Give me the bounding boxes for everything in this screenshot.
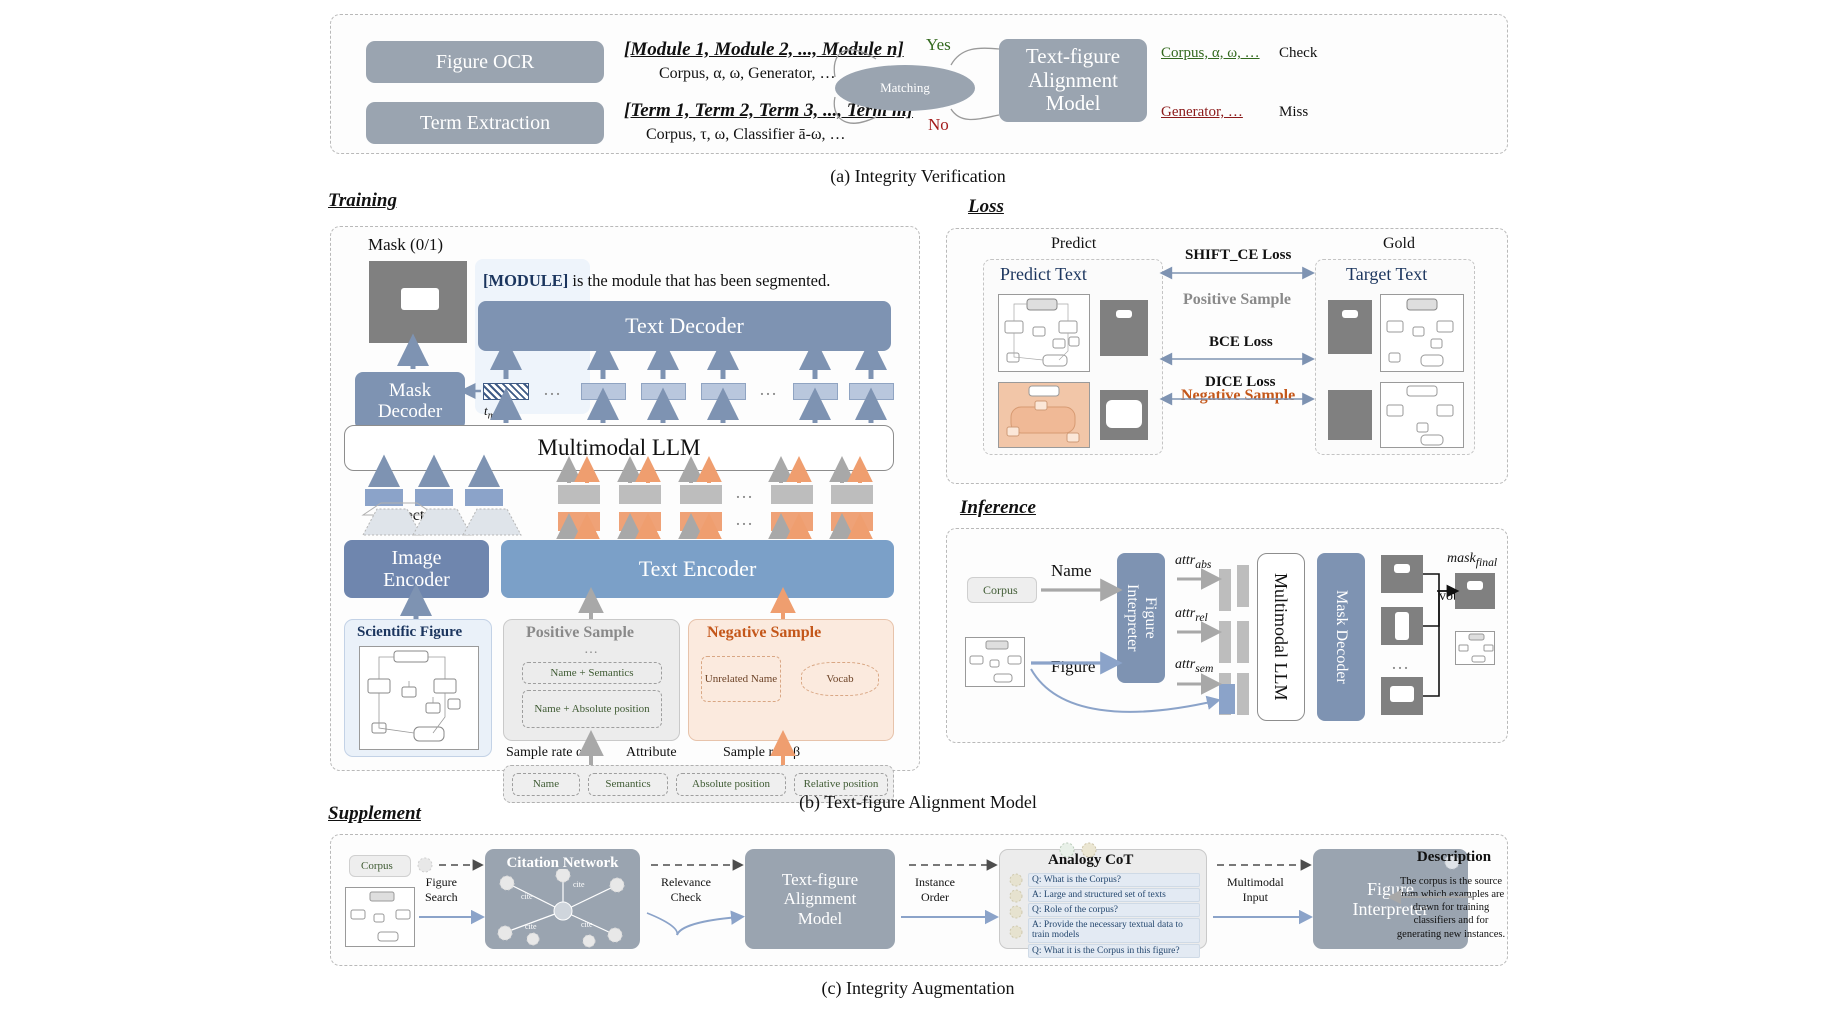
projector-label: Projector: [379, 507, 438, 525]
mask-token: [483, 383, 529, 400]
yes-label: Yes: [926, 35, 951, 55]
text-decoder-box[interactable]: Text Decoder: [478, 301, 891, 351]
target-text-label: Target Text: [1346, 264, 1427, 285]
inference-mask-decoder-label: Mask Decoder: [1332, 590, 1350, 684]
mask-region: [1116, 310, 1132, 318]
sample-rate-alpha-text: Sample rate α: [506, 745, 583, 760]
cot-line: A: Large and structured set of texts: [1028, 888, 1200, 902]
figure-ocr-box[interactable]: Figure OCR: [366, 41, 604, 83]
t-m-sub: m: [488, 410, 496, 422]
cot-line: Q: What it is the Corpus in this figure?: [1028, 944, 1200, 958]
alignment-model-box[interactable]: Text-figure Alignment Model: [999, 39, 1147, 122]
attr-token: [1237, 621, 1249, 663]
positive-sample-label: Positive Sample: [526, 624, 634, 642]
cot-line: Q: Role of the corpus?: [1028, 903, 1200, 917]
check-label: Check: [1279, 45, 1317, 62]
negative-item-vocab: Vocab: [801, 662, 879, 696]
figure-ocr-label: Figure OCR: [436, 51, 534, 73]
text-token-grey: [831, 485, 873, 504]
predict-group: Predict Text: [983, 259, 1163, 455]
predict-mask-thumb: [1100, 300, 1148, 356]
decoder-ellipsis-1: …: [543, 379, 561, 400]
mask-region: [401, 288, 439, 310]
decoder-token: [641, 383, 686, 400]
t-m-label: tm: [484, 403, 495, 422]
mask-final-label: maskfinal: [1447, 551, 1497, 569]
attr-token: [1219, 621, 1231, 663]
module-prompt-text: [MODULE] is the module that has been seg…: [483, 271, 830, 291]
attribute-label: Attribute: [626, 745, 677, 761]
description-body: The corpus is the source from which exam…: [1395, 875, 1507, 941]
scientific-figure-panel: Scientific Figure: [344, 619, 492, 757]
mask-decoder-box[interactable]: Mask Decoder: [355, 372, 465, 430]
mask-final-base: mask: [1447, 551, 1476, 566]
cot-list: Q: What is the Corpus? A: Large and stru…: [1028, 872, 1200, 959]
mask-region: [1390, 686, 1414, 702]
cot-line: Q: What is the Corpus?: [1028, 873, 1200, 887]
caption-a: (a) Integrity Verification: [0, 166, 1836, 187]
inference-figure-label: Figure: [1051, 657, 1095, 677]
mask-region: [1394, 564, 1410, 573]
citation-network-box[interactable]: Citation Network: [485, 849, 640, 949]
loss-positive-sample-label: Positive Sample: [1183, 291, 1291, 309]
inference-figure-thumb: [965, 637, 1025, 687]
predict-figure-thumb: [998, 294, 1090, 372]
negative-sample-panel: Negative Sample Unrelated Name Vocab: [688, 619, 894, 741]
predict-text-label: Predict Text: [1000, 264, 1087, 285]
final-mask: [1455, 573, 1495, 609]
attr-sem-sub: sem: [1195, 662, 1213, 675]
multimodal-input-label: Multimodal Input: [1227, 875, 1284, 905]
decoder-token: [849, 383, 894, 400]
mask-decoder-label: Mask Decoder: [378, 380, 442, 423]
shift-ce-loss-label: SHIFT_CE Loss: [1185, 247, 1291, 264]
attr-token: [1237, 673, 1249, 715]
candidate-mask: [1381, 555, 1423, 593]
target-negative-mask: [1328, 390, 1372, 440]
figure-embedding-token: [1219, 684, 1235, 714]
sample-rate-alpha-label: Sample rate α: [506, 745, 583, 761]
text-encoder-label: Text Encoder: [639, 557, 757, 582]
negative-sample-label: Negative Sample: [707, 624, 821, 642]
supplement-title: Supplement: [328, 803, 421, 825]
target-figure-thumb: [1380, 294, 1464, 372]
attr-rel-base: attr: [1175, 606, 1195, 621]
image-token: [415, 489, 453, 506]
mask-label: Mask (0/1): [368, 235, 443, 255]
no-label: No: [928, 115, 949, 135]
gold-label: Gold: [1383, 235, 1415, 253]
encoder-ellipsis-1: …: [735, 482, 753, 503]
attr-token: [1219, 569, 1231, 611]
panel-inference: Corpus Name Figure Figure Interpreter at…: [946, 528, 1508, 743]
target-mask-thumb: [1328, 300, 1372, 354]
supplement-figure-thumb: [345, 887, 415, 947]
attr-token: [1237, 565, 1249, 607]
inference-name-label: Name: [1051, 561, 1092, 581]
text-token-grey: [771, 485, 813, 504]
module-terms-text: Corpus, α, ω, Generator, …: [659, 65, 835, 83]
module-prompt-rest: is the module that has been segmented.: [568, 271, 830, 290]
attr-sem-label: attrsem: [1175, 657, 1213, 675]
target-negative-figure: [1380, 382, 1464, 448]
figure-interpreter-box[interactable]: Figure Interpreter: [1117, 553, 1165, 683]
bce-loss-label: BCE Loss: [1209, 334, 1273, 351]
gold-group: Target Text: [1315, 259, 1475, 455]
matching-ellipse[interactable]: Matching: [835, 65, 975, 111]
analogy-cot-panel: Analogy CoT Q: What is the Corpus? A: La…: [999, 849, 1207, 949]
caption-c: (c) Integrity Augmentation: [0, 978, 1836, 999]
sample-rate-beta-label: Sample rate β: [723, 745, 800, 761]
analogy-cot-label: Analogy CoT: [1048, 852, 1133, 869]
scientific-figure-thumbnail: [359, 646, 479, 750]
image-token: [365, 489, 403, 506]
attr-rel-label: attrrel: [1175, 606, 1208, 624]
dice-loss-label: DICE Loss: [1205, 374, 1275, 391]
predict-label: Predict: [1051, 235, 1096, 253]
text-token-orange: [558, 512, 600, 531]
candidate-ellipsis: …: [1391, 653, 1409, 674]
hit-text: Corpus, α, ω, …: [1161, 45, 1260, 62]
supplement-alignment-model-box[interactable]: Text-figure Alignment Model: [745, 849, 895, 949]
supplement-corpus-text: Corpus: [361, 860, 393, 872]
mask-thumbnail: [369, 261, 467, 343]
decoder-token: [581, 383, 626, 400]
citation-network-label: Citation Network: [506, 855, 618, 872]
term-extraction-box[interactable]: Term Extraction: [366, 102, 604, 144]
predict-negative-mask: [1100, 390, 1148, 440]
candidate-mask: [1381, 677, 1423, 715]
attr-rel-sub: rel: [1195, 611, 1208, 624]
inference-title: Inference: [960, 497, 1036, 519]
inference-mllm-box[interactable]: Multimodal LLM: [1257, 553, 1305, 721]
text-token-orange: [771, 512, 813, 531]
panel-integrity-verification: Figure OCR Term Extraction [Module 1, Mo…: [330, 14, 1508, 154]
attr-abs-sub: abs: [1195, 558, 1211, 571]
loss-title: Loss: [968, 196, 1004, 218]
relevance-check-label: Relevance Check: [661, 875, 711, 905]
candidate-mask: [1381, 607, 1423, 645]
text-token-orange: [680, 512, 722, 531]
term-terms-text: Corpus, τ, ω, Classifier ā-ω, …: [646, 126, 845, 144]
image-encoder-box[interactable]: Image Encoder: [344, 540, 489, 598]
cot-line: A: Provide the necessary textual data to…: [1028, 918, 1200, 943]
panel-training: Mask (0/1) Mask Decoder [MODULE] is the …: [330, 226, 920, 771]
description-title: Description: [1399, 849, 1509, 866]
figure-interpreter-label: Figure Interpreter: [1123, 584, 1159, 652]
decoder-token: [701, 383, 746, 400]
multimodal-llm-box[interactable]: Multimodal LLM: [344, 425, 894, 471]
encoder-ellipsis-2: …: [735, 509, 753, 530]
matching-label: Matching: [880, 80, 930, 96]
text-encoder-box[interactable]: Text Encoder: [501, 540, 894, 598]
multimodal-llm-label: Multimodal LLM: [538, 435, 701, 461]
mask-final-sub: final: [1476, 556, 1497, 569]
alignment-model-label: Text-figure Alignment Model: [1026, 45, 1120, 116]
image-encoder-label: Image Encoder: [383, 547, 450, 592]
attr-abs-label: attrabs: [1175, 553, 1211, 571]
instance-order-label: Instance Order: [915, 875, 955, 905]
image-token: [465, 489, 503, 506]
positive-ellipsis: …: [584, 642, 598, 658]
predict-negative-thumb: [998, 382, 1090, 448]
attr-sem-base: attr: [1175, 657, 1195, 672]
miss-label: Miss: [1279, 104, 1308, 121]
text-token-orange: [619, 512, 661, 531]
positive-item: Name + Semantics: [522, 662, 662, 684]
scientific-figure-label: Scientific Figure: [357, 624, 462, 641]
module-list-text: [Module 1, Module 2, ..., Module n]: [624, 39, 904, 61]
decoder-token: [793, 383, 838, 400]
supplement-alignment-model-label: Text-figure Alignment Model: [782, 870, 858, 927]
attr-abs-base: attr: [1175, 553, 1195, 568]
final-figure-thumb: [1455, 631, 1495, 665]
inference-corpus-text: Corpus: [983, 583, 1018, 598]
mask-region: [1467, 581, 1483, 590]
figure-search-label: Figure Search: [425, 875, 458, 905]
text-token-grey: [619, 485, 661, 504]
decoder-ellipsis-2: …: [759, 379, 777, 400]
mask-region: [1106, 400, 1142, 428]
inference-mask-decoder-box[interactable]: Mask Decoder: [1317, 553, 1365, 721]
panel-supplement: Corpus Figure Search Citation Network ci…: [330, 834, 1508, 966]
mask-region: [1395, 612, 1409, 640]
term-extraction-label: Term Extraction: [420, 112, 550, 134]
mask-region: [1342, 310, 1358, 318]
panel-loss: Predict Gold Predict Text: [946, 228, 1508, 484]
miss-text: Generator, …: [1161, 104, 1243, 121]
module-token: [MODULE]: [483, 271, 568, 290]
text-decoder-label: Text Decoder: [625, 314, 744, 339]
inference-mllm-label: Multimodal LLM: [1271, 573, 1291, 701]
text-token-grey: [680, 485, 722, 504]
text-token-orange: [831, 512, 873, 531]
positive-item: Name + Absolute position: [522, 690, 662, 728]
positive-sample-panel: Positive Sample … Name + Semantics Name …: [503, 619, 680, 741]
training-title: Training: [328, 190, 397, 212]
text-token-grey: [558, 485, 600, 504]
caption-b: (b) Text-figure Alignment Model: [0, 792, 1836, 813]
negative-item-unrelated-name: Unrelated Name: [701, 656, 781, 702]
